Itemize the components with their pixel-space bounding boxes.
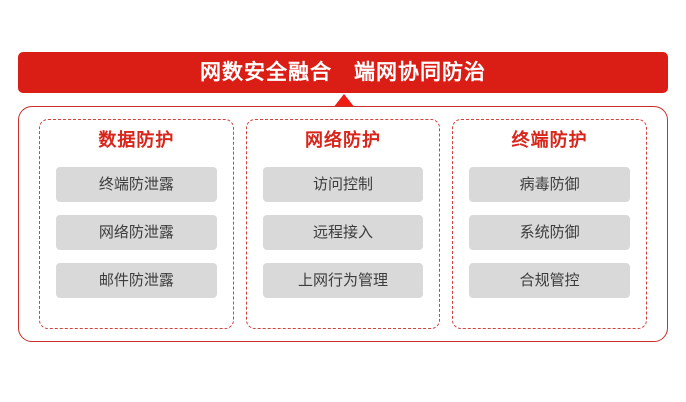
protection-container: 数据防护 终端防泄露 网络防泄露 邮件防泄露 网络防护 访问控制 远程接入 上网… — [18, 106, 668, 342]
item-list-network: 访问控制 远程接入 上网行为管理 — [263, 167, 424, 298]
protection-column-data: 数据防护 终端防泄露 网络防泄露 邮件防泄露 — [39, 119, 234, 329]
column-title-network: 网络防护 — [305, 132, 381, 150]
item-box[interactable]: 访问控制 — [263, 167, 424, 202]
item-box[interactable]: 邮件防泄露 — [56, 263, 217, 298]
protection-columns: 数据防护 终端防泄露 网络防泄露 邮件防泄露 网络防护 访问控制 远程接入 上网… — [19, 107, 667, 341]
item-box[interactable]: 上网行为管理 — [263, 263, 424, 298]
protection-column-endpoint: 终端防护 病毒防御 系统防御 合规管控 — [452, 119, 647, 329]
item-box[interactable]: 远程接入 — [263, 215, 424, 250]
item-box[interactable]: 终端防泄露 — [56, 167, 217, 202]
item-box[interactable]: 网络防泄露 — [56, 215, 217, 250]
item-list-data: 终端防泄露 网络防泄露 邮件防泄露 — [56, 167, 217, 298]
item-box[interactable]: 系统防御 — [469, 215, 630, 250]
security-architecture-diagram: 网数安全融合 端网协同防治 数据防护 终端防泄露 网络防泄露 邮件防泄露 网络防… — [0, 0, 686, 402]
column-title-endpoint: 终端防护 — [512, 132, 588, 150]
item-box[interactable]: 病毒防御 — [469, 167, 630, 202]
banner-title: 网数安全融合 端网协同防治 — [200, 62, 486, 83]
banner-header: 网数安全融合 端网协同防治 — [18, 52, 668, 93]
protection-column-network: 网络防护 访问控制 远程接入 上网行为管理 — [246, 119, 441, 329]
column-title-data: 数据防护 — [98, 132, 174, 150]
item-box[interactable]: 合规管控 — [469, 263, 630, 298]
item-list-endpoint: 病毒防御 系统防御 合规管控 — [469, 167, 630, 298]
